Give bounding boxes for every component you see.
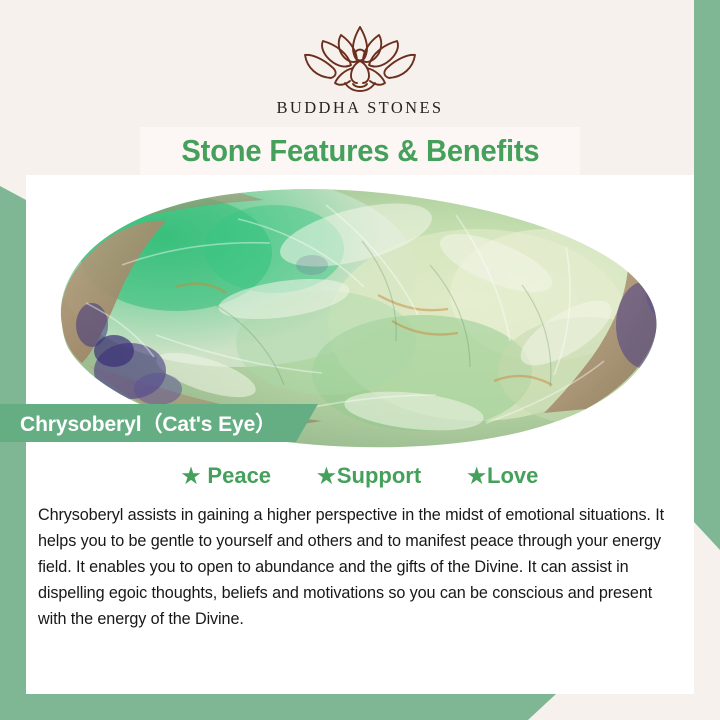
- keyword-label: Peace: [207, 463, 271, 489]
- stone-name-banner: Chrysoberyl（Cat's Eye）: [0, 404, 318, 442]
- keyword-love: ★ Love: [467, 463, 538, 489]
- infographic-page: BUDDHA STONES: [0, 0, 720, 720]
- stone-description: Chrysoberyl assists in gaining a higher …: [38, 502, 678, 632]
- star-icon: ★: [317, 466, 336, 487]
- star-icon: ★: [182, 466, 201, 487]
- stone-content: ★ Peace ★ Support ★ Love Chrysoberyl ass…: [26, 450, 694, 694]
- keyword-label: Love: [487, 463, 538, 489]
- keyword-peace: ★ Peace: [182, 463, 271, 489]
- star-icon: ★: [467, 466, 486, 487]
- lotus-meditation-logo-icon: [285, 22, 435, 94]
- page-title: Stone Features & Benefits: [181, 133, 539, 169]
- keyword-support: ★ Support: [317, 463, 421, 489]
- keyword-label: Support: [337, 463, 421, 489]
- stone-name: Chrysoberyl（Cat's Eye）: [0, 408, 276, 438]
- frame-band-bottom: [0, 694, 720, 720]
- keyword-list: ★ Peace ★ Support ★ Love: [26, 450, 694, 489]
- frame-band-left: [0, 186, 26, 720]
- frame-band-right: [694, 0, 720, 550]
- brand-wordmark: BUDDHA STONES: [276, 98, 443, 118]
- page-title-banner: Stone Features & Benefits: [140, 127, 580, 175]
- brand-logo: BUDDHA STONES: [26, 22, 694, 118]
